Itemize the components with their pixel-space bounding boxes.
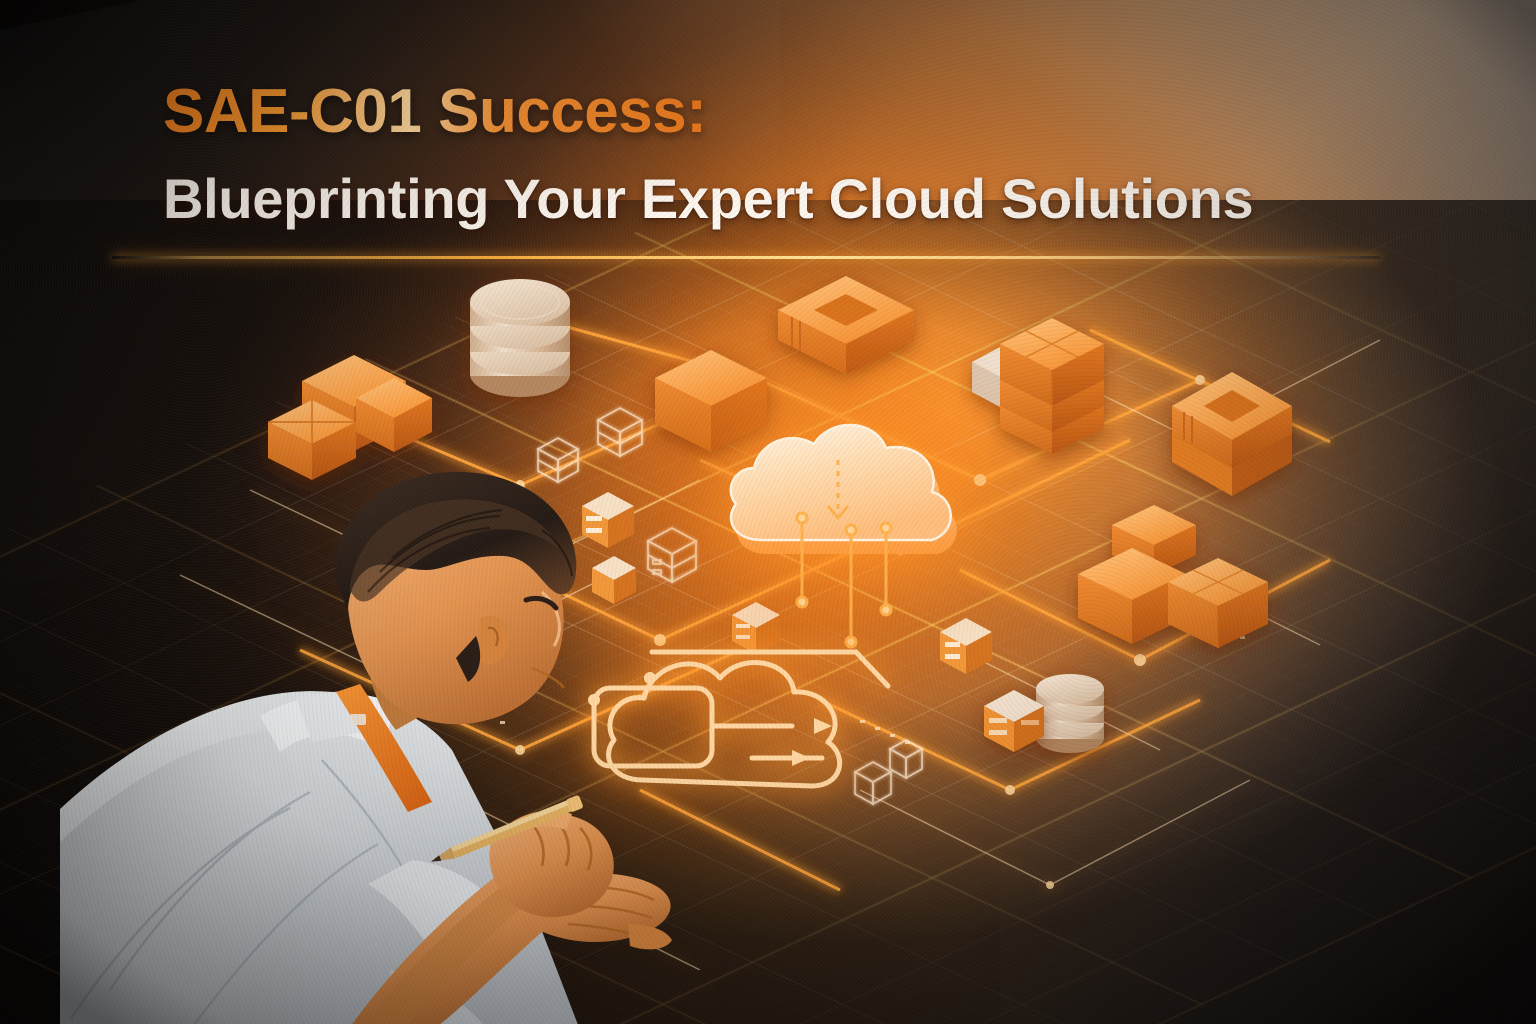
head: [335, 472, 576, 724]
page-title: SAE-C01 Success:: [163, 76, 706, 147]
banner-image: SAE-C01 Success: Blueprinting Your Exper…: [0, 0, 1536, 1024]
banner-header: SAE-C01 Success: Blueprinting Your Exper…: [0, 0, 1536, 280]
header-divider: [112, 256, 1380, 259]
page-subtitle: Blueprinting Your Expert Cloud Solutions: [163, 166, 1253, 231]
cloud-architect: [60, 430, 880, 1024]
